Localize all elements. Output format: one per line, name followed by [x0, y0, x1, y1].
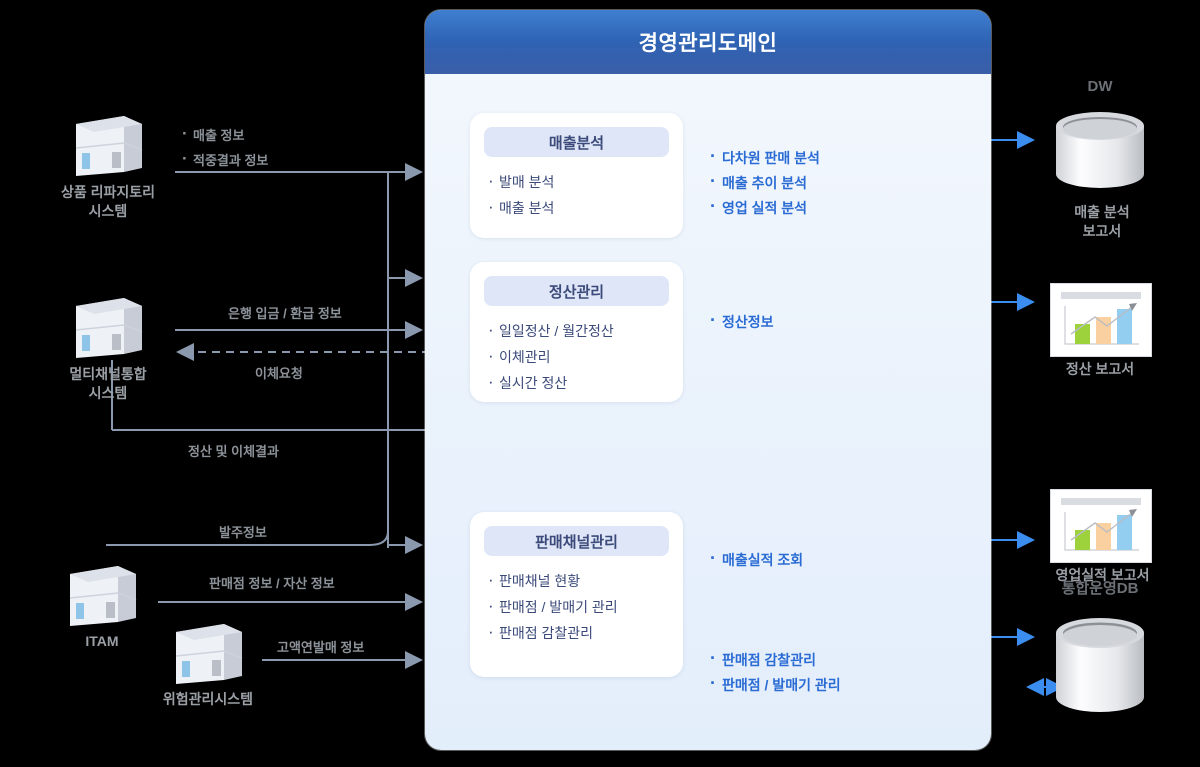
list-item: 이체관리: [488, 344, 683, 370]
database-cylinder-icon: 통합운영DB: [1052, 617, 1148, 720]
system-label-product-repository: 상품 리파지토리 시스템: [28, 183, 188, 221]
list-item: 판매점 / 발매기 관리: [488, 594, 683, 620]
list-item: 일일정산 / 월간정산: [488, 318, 683, 344]
server-icon: [68, 110, 148, 185]
bar-chart-report-icon: [1050, 283, 1152, 357]
edge-label-order-info: 발주정보: [219, 522, 267, 541]
list-item: 영업 실적 분석: [710, 196, 820, 221]
system-label-itam: ITAM: [42, 632, 162, 651]
list-item: 매출 분석: [488, 195, 683, 221]
server-icon: [68, 292, 148, 367]
list-item: 정산정보: [710, 310, 774, 335]
module-card-sales-analysis[interactable]: 매출분석 발매 분석 매출 분석: [470, 113, 683, 238]
edge-label-sales-info: 매출 정보 적중결과 정보: [182, 123, 268, 173]
output-group-channel-ops: 판매점 감찰관리 판매점 / 발매기 관리: [710, 648, 841, 698]
edge-label-transfer-request: 이체요청: [255, 363, 303, 382]
target-label-sales-report: 매출 분석 보고서: [1032, 203, 1172, 241]
list-item: 다차원 판매 분석: [710, 146, 820, 171]
domain-title: 경영관리도메인: [639, 27, 778, 57]
list-item: 판매점 감찰관리: [710, 648, 841, 673]
database-label: DW: [1052, 78, 1148, 95]
edge-label-high-amount-sales: 고액연발매 정보: [277, 637, 364, 656]
list-item: 매출 추이 분석: [710, 171, 820, 196]
system-label-multichannel: 멀티채널통합 시스템: [28, 365, 188, 403]
edge-label-bank-deposit: 은행 입금 / 환급 정보: [228, 303, 342, 322]
list-item: 판매점 감찰관리: [488, 620, 683, 646]
edge-label-line: 적중결과 정보: [182, 148, 268, 173]
module-item-list: 발매 분석 매출 분석: [470, 165, 683, 221]
module-title: 매출분석: [484, 127, 669, 157]
system-label-risk-management: 위험관리시스템: [133, 690, 283, 709]
target-label-settlement-report: 정산 보고서: [1040, 360, 1160, 379]
edge-label-line: 매출 정보: [182, 123, 268, 148]
edge-label-store-asset-info: 판매점 정보 / 자산 정보: [209, 573, 335, 592]
diagram-canvas: 경영관리도메인 매출분석 발매 분석 매출 분석 정산관리 일일정산 / 월간정…: [0, 0, 1200, 767]
edge-label-settlement-result: 정산 및 이체결과: [188, 441, 279, 460]
database-cylinder-icon: DW: [1052, 112, 1148, 195]
module-title: 정산관리: [484, 276, 669, 306]
module-card-sales-channel[interactable]: 판매채널관리 판매채널 현황 판매점 / 발매기 관리 판매점 감찰관리: [470, 512, 683, 677]
server-icon: [62, 560, 142, 635]
output-group-sales-analysis: 다차원 판매 분석 매출 추이 분석 영업 실적 분석: [710, 146, 820, 221]
output-group-settlement: 정산정보: [710, 310, 774, 335]
list-item: 실시간 정산: [488, 370, 683, 396]
domain-header: 경영관리도메인: [425, 10, 991, 74]
list-item: 매출실적 조회: [710, 548, 803, 573]
database-label: 통합운영DB: [1052, 577, 1148, 598]
module-item-list: 판매채널 현황 판매점 / 발매기 관리 판매점 감찰관리: [470, 564, 683, 646]
list-item: 판매채널 현황: [488, 568, 683, 594]
list-item: 판매점 / 발매기 관리: [710, 673, 841, 698]
list-item: 발매 분석: [488, 169, 683, 195]
server-icon: [168, 618, 248, 693]
module-card-settlement[interactable]: 정산관리 일일정산 / 월간정산 이체관리 실시간 정산: [470, 262, 683, 402]
module-title: 판매채널관리: [484, 526, 669, 556]
bar-chart-report-icon: [1050, 489, 1152, 563]
output-group-sales-result: 매출실적 조회: [710, 548, 803, 573]
module-item-list: 일일정산 / 월간정산 이체관리 실시간 정산: [470, 314, 683, 396]
